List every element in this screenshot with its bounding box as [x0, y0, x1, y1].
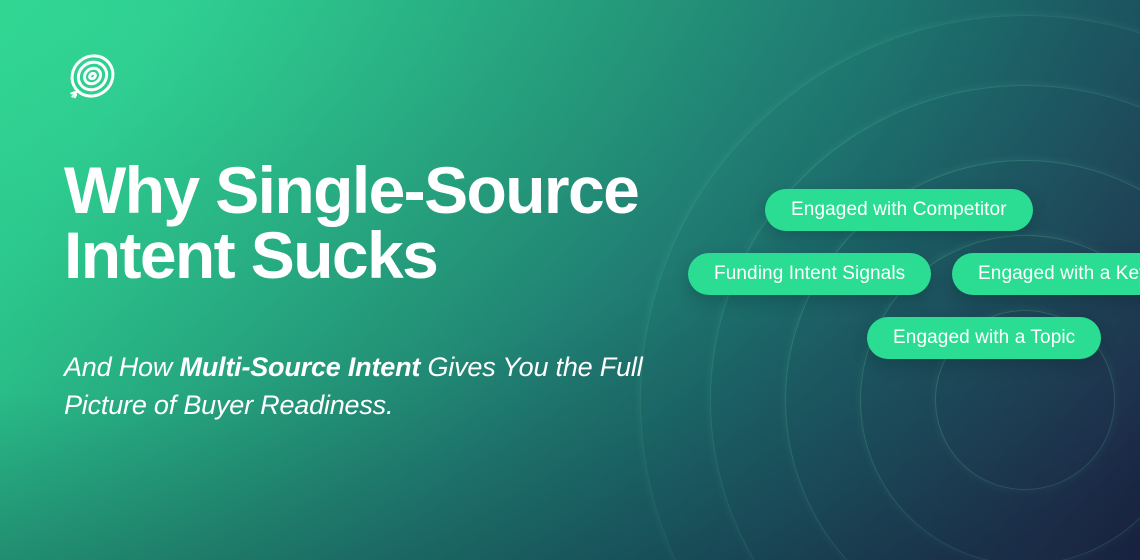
subtitle-prefix: And How: [64, 352, 179, 382]
subtitle-emphasis: Multi-Source Intent: [179, 352, 420, 382]
pill-engaged-with-a-topic[interactable]: Engaged with a Topic: [867, 317, 1101, 359]
page-subtitle: And How Multi-Source Intent Gives You th…: [64, 348, 724, 425]
slide-canvas: Why Single-Source Intent Sucks And How M…: [0, 0, 1140, 560]
page-title: Why Single-Source Intent Sucks: [64, 158, 764, 289]
pill-label: Engaged with a Topic: [893, 327, 1075, 349]
headline-line-1: Why Single-Source: [64, 158, 764, 223]
headline-line-2: Intent Sucks: [64, 223, 764, 288]
spiral-onion-logo-icon: [63, 50, 119, 106]
pill-engaged-with-a-keyword[interactable]: Engaged with a Keyword: [952, 253, 1140, 295]
pill-label: Funding Intent Signals: [714, 263, 905, 285]
pill-funding-intent-signals[interactable]: Funding Intent Signals: [688, 253, 931, 295]
pill-engaged-with-competitor[interactable]: Engaged with Competitor: [765, 189, 1033, 231]
pill-label: Engaged with Competitor: [791, 199, 1007, 221]
pill-label: Engaged with a Keyword: [978, 263, 1140, 285]
